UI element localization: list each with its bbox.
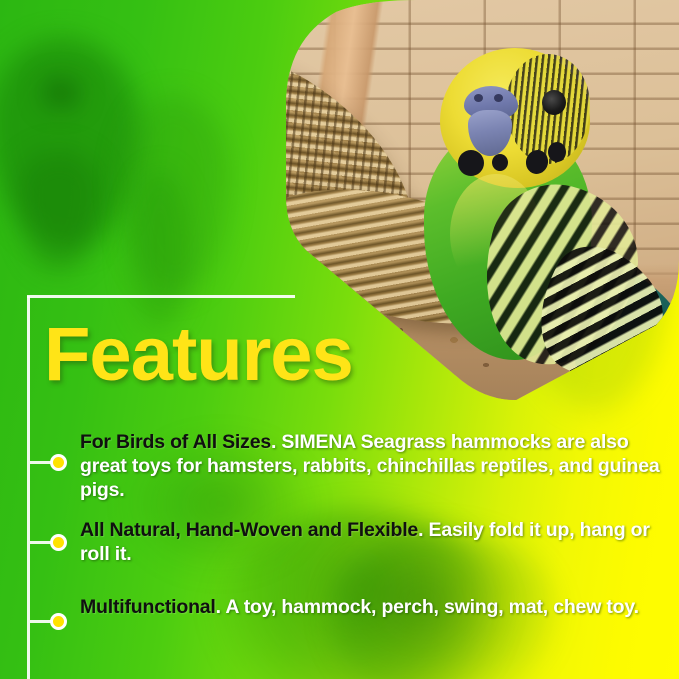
watermark-bird-neck-left [130, 170, 190, 330]
watermark-bird-beak-left [18, 150, 100, 270]
rail-horizontal [27, 295, 295, 298]
product-feature-card: Features For Birds of All Sizes. SIMENA … [0, 0, 679, 679]
budgerigar-parakeet [388, 14, 679, 400]
feature-body-3: . A toy, hammock, perch, swing, mat, che… [216, 596, 639, 618]
watermark-bird-body-left [120, 95, 230, 295]
watermark-bird-eye-left [44, 80, 78, 106]
bird-nostril-left [474, 94, 483, 102]
watermark-bird-head-left [0, 38, 140, 248]
bullet-dot-2 [50, 534, 67, 551]
feature-item-1: For Birds of All Sizes. SIMENA Seagrass … [80, 431, 679, 502]
feature-item-3: Multifunctional. A toy, hammock, perch, … [80, 596, 679, 620]
bullet-dot-3 [50, 613, 67, 630]
page-title: Features [44, 317, 353, 393]
bird-throat-spot-a [492, 154, 508, 171]
feature-lead-2: All Natural, Hand-Woven and Flexible [80, 519, 418, 541]
bullet-dot-1 [50, 454, 67, 471]
bird-nostril-right [494, 94, 503, 102]
feature-item-2: All Natural, Hand-Woven and Flexible. Ea… [80, 519, 679, 567]
bird-eye [542, 90, 566, 115]
feature-lead-3: Multifunctional [80, 596, 216, 618]
bird-cheek-patch-left [458, 150, 484, 176]
hammock-hook-ring [212, 53, 260, 103]
feature-lead-1: For Birds of All Sizes [80, 431, 271, 453]
hammock-hook-stem [227, 36, 236, 66]
bird-throat-spot-b [548, 142, 566, 162]
